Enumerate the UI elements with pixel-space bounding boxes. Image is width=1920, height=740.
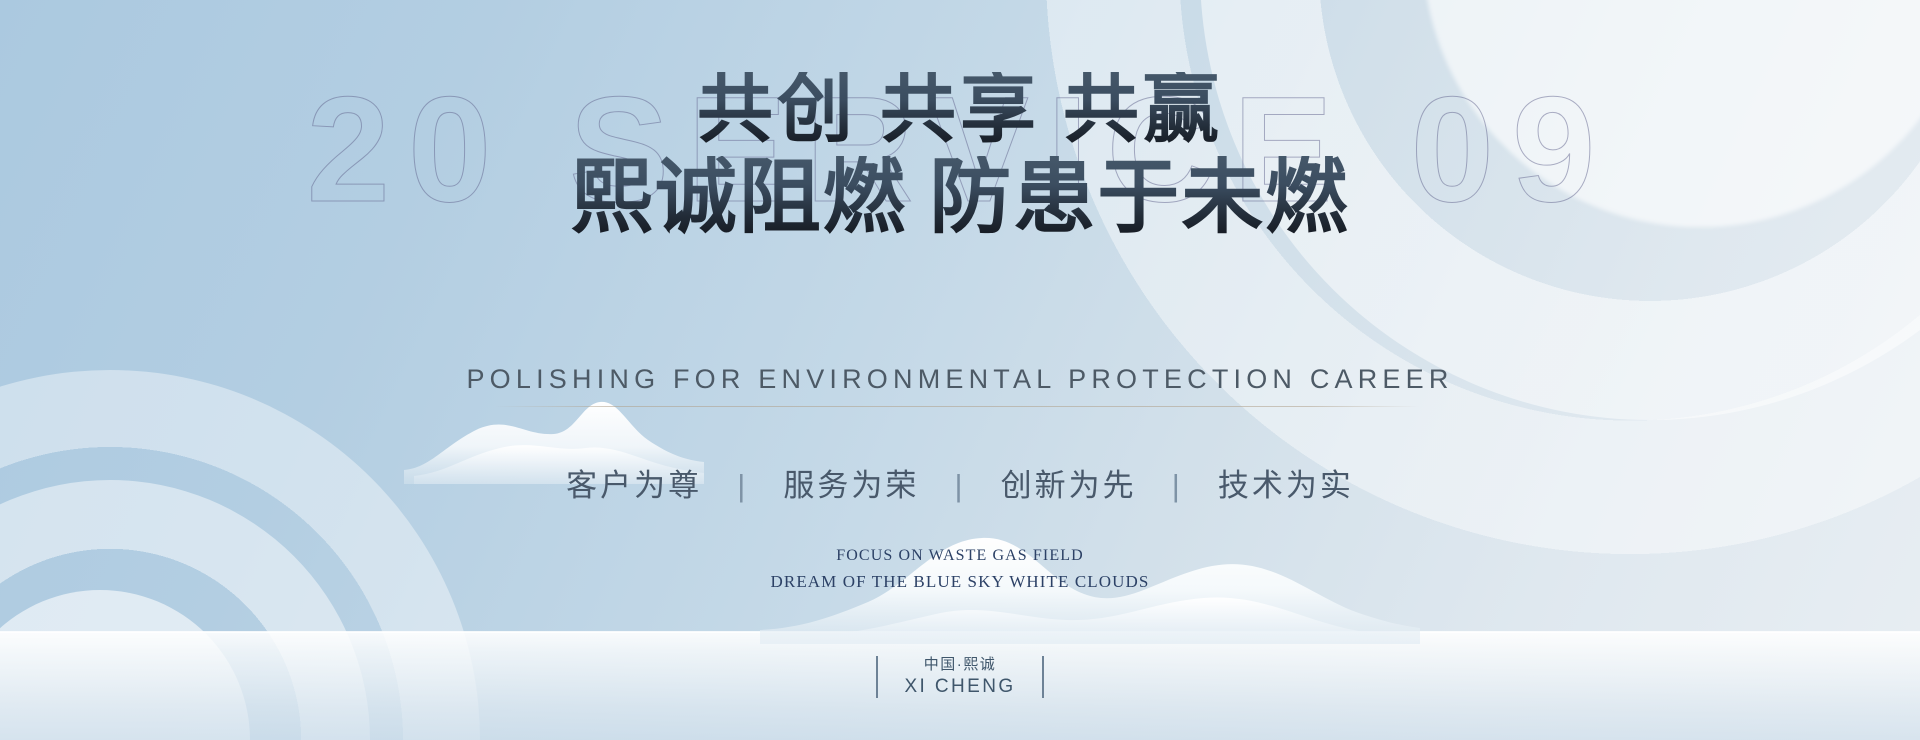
logo-text-group: 中国·熙诚 XI CHENG xyxy=(904,654,1015,700)
value-item-2: 服务为荣 xyxy=(783,460,919,505)
value-item-4: 技术为实 xyxy=(1218,460,1354,505)
logo-english: XI CHENG xyxy=(904,675,1015,700)
value-separator-2: | xyxy=(931,468,989,504)
slogan-line-2: DREAM OF THE BLUE SKY WHITE CLOUDS xyxy=(0,569,1920,595)
slogan-line-1: FOCUS ON WASTE GAS FIELD xyxy=(0,544,1920,569)
values-row: 客户为尊 | 服务为荣 | 创新为先 | 技术为实 xyxy=(0,460,1920,505)
banner-canvas: 20 SERVICE 09 共创 共享 共赢 熙诚阻燃 防患于未燃 POLISH… xyxy=(0,0,1920,740)
headline-group: 共创 共享 共赢 熙诚阻燃 防患于未燃 xyxy=(0,72,1920,239)
value-separator-1: | xyxy=(714,468,772,504)
logo-chinese: 中国·熙诚 xyxy=(904,654,1015,676)
value-separator-3: | xyxy=(1148,468,1206,504)
ground-edge-line xyxy=(0,631,1920,633)
logo-lockup: 中国·熙诚 XI CHENG xyxy=(0,654,1920,700)
logo-rule-left xyxy=(876,656,878,698)
value-item-3: 创新为先 xyxy=(1001,460,1137,505)
headline-line-1: 共创 共享 共赢 xyxy=(0,72,1920,150)
value-item-1: 客户为尊 xyxy=(566,460,702,505)
tagline-text: POLISHING FOR ENVIRONMENTAL PROTECTION C… xyxy=(0,364,1920,395)
tagline-underline xyxy=(495,406,1420,407)
logo-rule-right xyxy=(1042,656,1044,698)
headline-line-2: 熙诚阻燃 防患于未燃 xyxy=(0,156,1920,240)
slogan-group: FOCUS ON WASTE GAS FIELD DREAM OF THE BL… xyxy=(0,544,1920,595)
